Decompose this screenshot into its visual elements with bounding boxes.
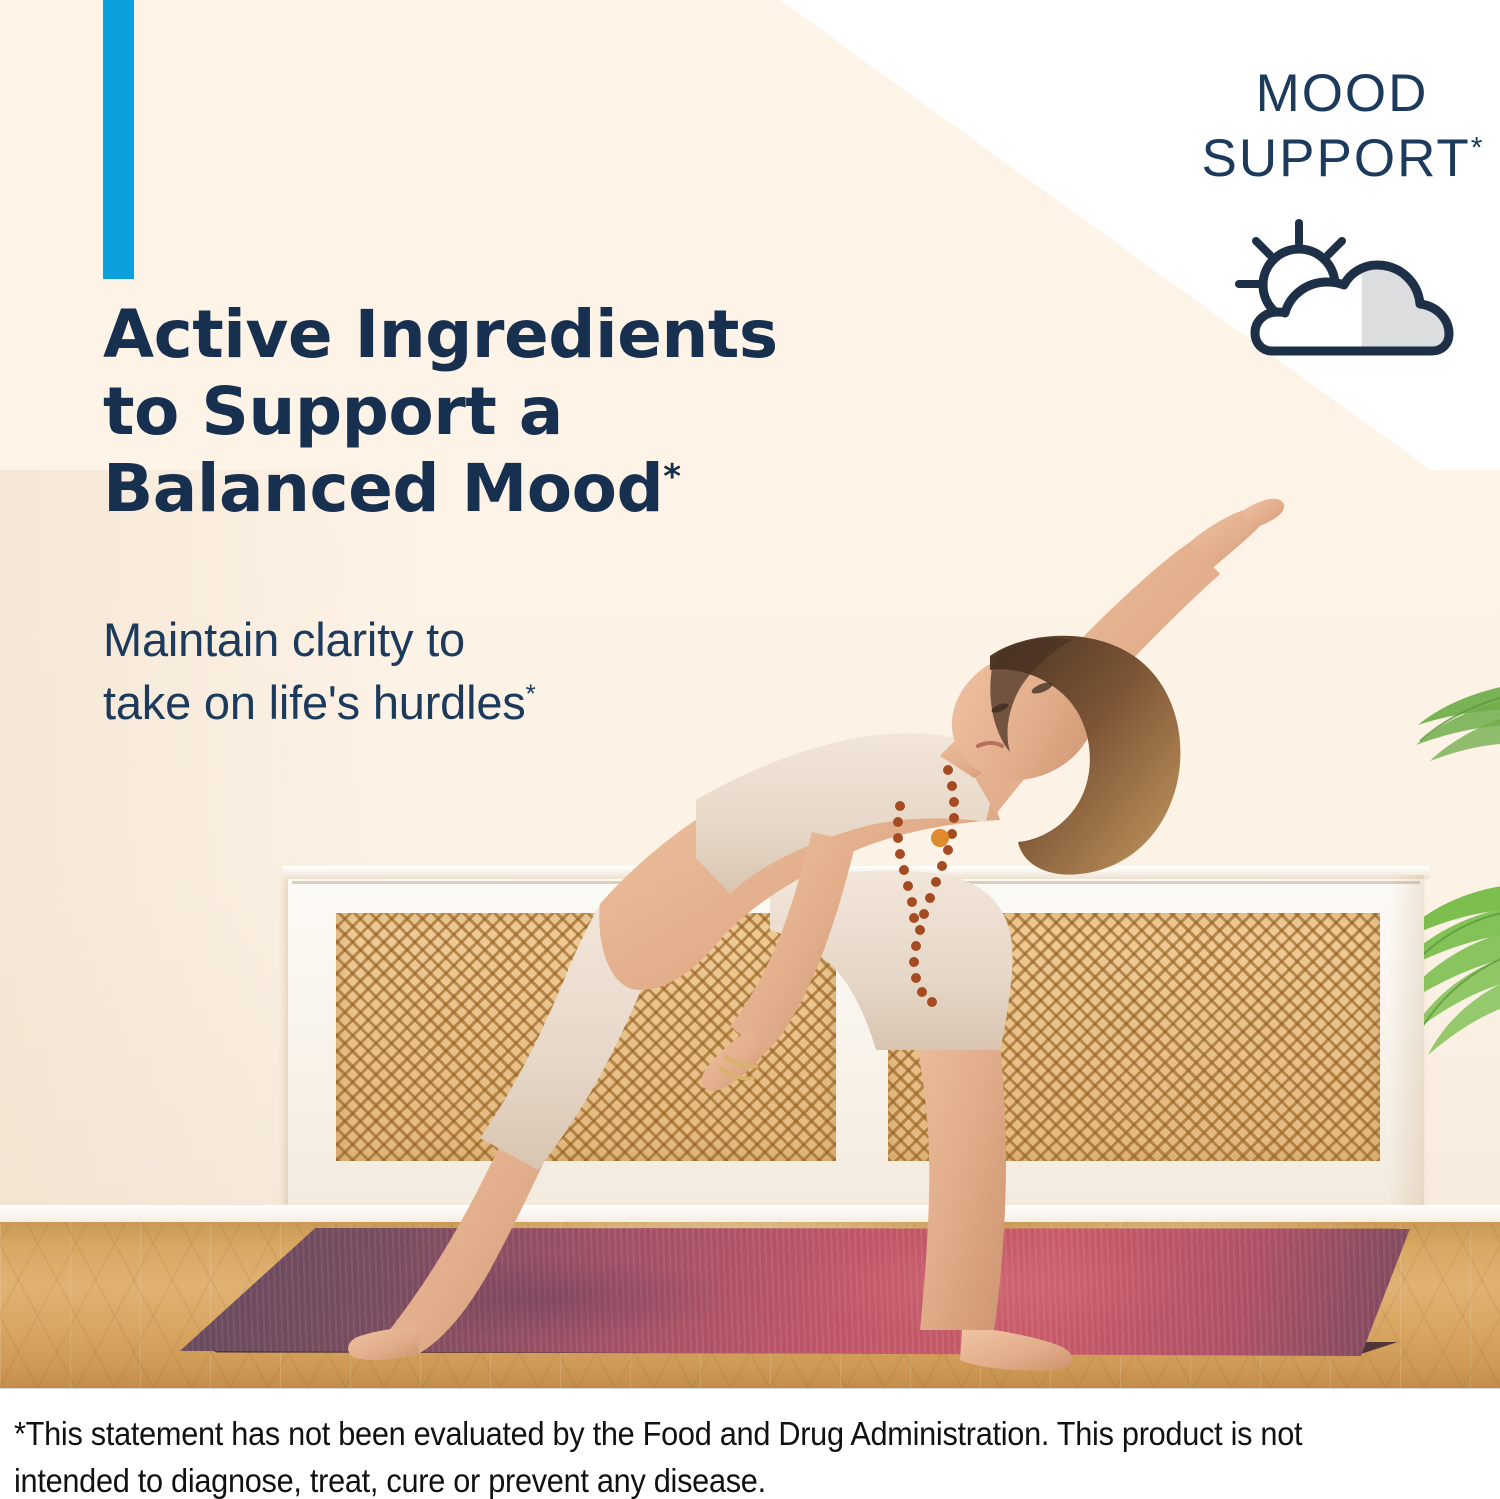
subhead-line-1: Maintain clarity to bbox=[103, 608, 803, 671]
badge-title-line-2-wrap: SUPPORT* bbox=[1192, 127, 1492, 192]
headline-line-3: Balanced Mood bbox=[103, 450, 663, 527]
headline-line-3-wrap: Balanced Mood* bbox=[103, 450, 893, 527]
badge-asterisk: * bbox=[1471, 131, 1483, 164]
mood-support-badge: MOOD SUPPORT* bbox=[1192, 62, 1492, 367]
page-title: Active Ingredients to Support a Balanced… bbox=[103, 296, 893, 528]
disclaimer-text: *This statement has not been evaluated b… bbox=[14, 1411, 1355, 1499]
badge-title-line-1: MOOD bbox=[1192, 62, 1492, 127]
footer-disclaimer: *This statement has not been evaluated b… bbox=[0, 1388, 1500, 1499]
badge-title: MOOD SUPPORT* bbox=[1192, 62, 1492, 191]
blue-accent-bar bbox=[103, 0, 134, 279]
sun-behind-cloud-icon bbox=[1227, 217, 1457, 367]
subhead-line-2-wrap: take on life's hurdles* bbox=[103, 671, 803, 734]
headline-line-1: Active Ingredients bbox=[103, 296, 893, 373]
product-marketing-image: Active Ingredients to Support a Balanced… bbox=[0, 0, 1500, 1499]
subhead-asterisk: * bbox=[526, 679, 536, 709]
badge-title-line-2: SUPPORT bbox=[1202, 129, 1471, 188]
badge-icon-wrap bbox=[1192, 217, 1492, 367]
headline-line-2: to Support a bbox=[103, 373, 893, 450]
headline-asterisk: * bbox=[663, 457, 680, 497]
subtitle: Maintain clarity to take on life's hurdl… bbox=[103, 608, 803, 735]
radiator-shadow bbox=[1388, 875, 1424, 1220]
subhead-line-2: take on life's hurdles bbox=[103, 676, 526, 729]
